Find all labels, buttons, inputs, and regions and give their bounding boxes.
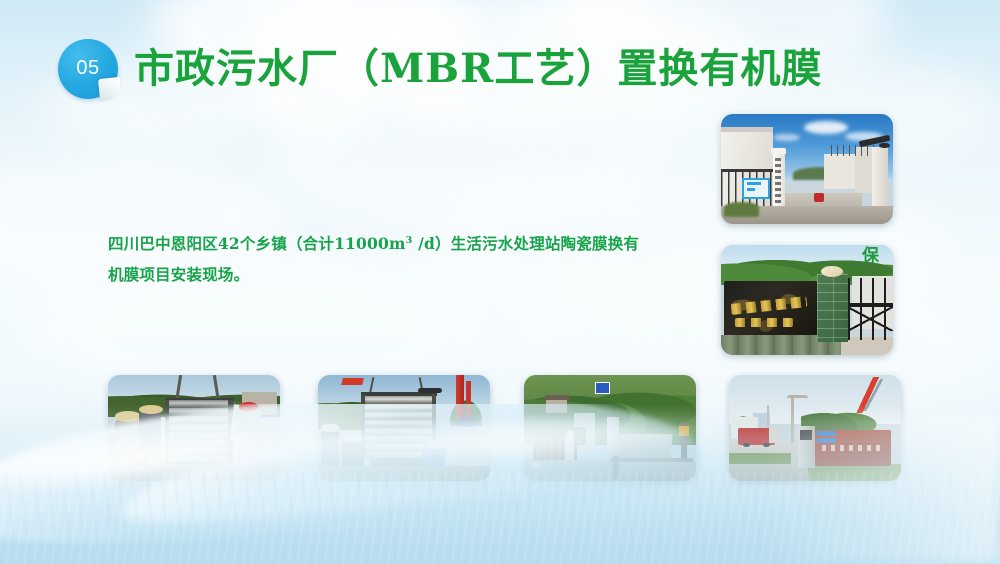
body-paragraph: 四川巴中恩阳区42个乡镇（合计11000m3 /d）生活污水处理站陶瓷膜换有机膜… [108, 228, 653, 290]
photo-plant-gate-scene [721, 114, 893, 224]
red-flag-shape [341, 378, 363, 385]
slide-header: 05 市政污水厂（MBR工艺）置换有机膜 [0, 34, 1000, 104]
shrub-shape [724, 202, 758, 217]
gold-lettering-row [735, 318, 793, 328]
road-sign-icon [595, 382, 611, 394]
gate-lattice-shape [848, 307, 893, 331]
security-camera-icon [879, 143, 889, 149]
green-brick-pillar-shape [817, 274, 848, 342]
plaque-text-line [747, 188, 756, 191]
railing-rail-shape [721, 169, 773, 172]
module-pipe-shape [418, 388, 442, 393]
gate-post-shape [872, 147, 887, 209]
section-number-badge: 05 [58, 39, 118, 99]
photo-marble-wall-scene: 保 [721, 245, 893, 355]
cloud-shape [260, 95, 680, 215]
ground-surface [841, 337, 893, 355]
body-text-part-1: 四川巴中恩阳区42个乡镇（合计11000m [108, 234, 406, 253]
street-lamp-arm [787, 395, 808, 398]
body-text-part-2: /d）生活污水处理站陶瓷膜换 [413, 234, 624, 253]
roof-shape [545, 395, 569, 400]
wall-cap-shape [721, 127, 773, 131]
building-shape [824, 154, 858, 189]
photo-plant-gate[interactable] [721, 114, 893, 224]
fence-shape [831, 145, 876, 156]
vehicle-shape [814, 193, 824, 202]
vertical-signboard-text [775, 158, 781, 209]
photo-marble-wall[interactable]: 保 [721, 245, 893, 355]
plaque-text-line [747, 182, 761, 185]
slide-root: 05 市政污水厂（MBR工艺）置换有机膜 四川巴中恩阳区42个乡镇（合计1100… [0, 0, 1000, 564]
page-title: 市政污水厂（MBR工艺）置换有机膜 [134, 49, 822, 89]
body-text-superscript: 3 [406, 235, 413, 246]
cloud-shape [804, 121, 849, 134]
section-number-label: 05 [58, 39, 118, 99]
water-sheen-highlight [760, 414, 1000, 564]
pillar-lamp-icon [821, 266, 843, 277]
overlay-character-label: 保 [862, 248, 890, 272]
gate-pillar-cap-shape [771, 148, 786, 154]
water-wave-band [0, 404, 1000, 564]
